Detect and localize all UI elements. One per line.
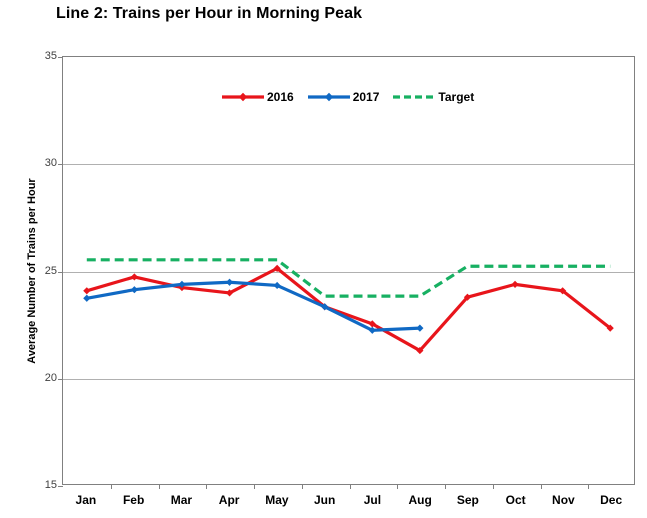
legend-label-2017: 2017: [353, 90, 380, 104]
x-tick-label-apr: Apr: [219, 493, 240, 507]
legend-item-2017: 2017: [308, 90, 380, 104]
x-tick-mark: [159, 484, 160, 489]
x-tick-mark: [206, 484, 207, 489]
x-tick-label-feb: Feb: [123, 493, 144, 507]
y-tick-label: 25: [17, 265, 57, 277]
chart-container: Line 2: Trains per Hour in Morning Peak …: [0, 0, 647, 518]
x-tick-label-mar: Mar: [171, 493, 192, 507]
data-point-2017: [83, 295, 90, 302]
x-tick-mark: [350, 484, 351, 489]
plot-area: [62, 56, 635, 485]
legend-swatch-2016: [222, 90, 264, 104]
x-tick-label-jan: Jan: [76, 493, 97, 507]
data-point-2017: [416, 325, 423, 332]
x-tick-label-dec: Dec: [600, 493, 622, 507]
x-tick-mark: [588, 484, 589, 489]
series-layer: [63, 57, 634, 484]
legend-swatch-target: [393, 90, 435, 104]
x-tick-label-jul: Jul: [364, 493, 381, 507]
x-tick-label-jun: Jun: [314, 493, 335, 507]
x-tick-mark: [541, 484, 542, 489]
x-tick-mark: [254, 484, 255, 489]
data-point-2016: [511, 281, 518, 288]
legend-label-2016: 2016: [267, 90, 294, 104]
x-tick-mark: [445, 484, 446, 489]
x-tick-label-may: May: [265, 493, 288, 507]
data-point-2016: [131, 273, 138, 280]
legend-label-target: Target: [438, 90, 474, 104]
data-point-2016: [83, 287, 90, 294]
x-tick-mark: [111, 484, 112, 489]
x-tick-label-oct: Oct: [506, 493, 526, 507]
x-tick-label-aug: Aug: [408, 493, 431, 507]
data-point-2017: [131, 286, 138, 293]
y-tick-label: 30: [17, 157, 57, 169]
x-tick-mark: [302, 484, 303, 489]
legend-swatch-2017: [308, 90, 350, 104]
data-point-2017: [226, 279, 233, 286]
x-tick-label-sep: Sep: [457, 493, 479, 507]
chart-legend: 2016 2017 Target: [222, 90, 474, 104]
legend-item-target: Target: [393, 90, 474, 104]
y-tick-label: 20: [17, 372, 57, 384]
y-tick-mark: [58, 486, 63, 487]
y-tick-label: 15: [17, 479, 57, 491]
x-tick-mark: [397, 484, 398, 489]
chart-title: Line 2: Trains per Hour in Morning Peak: [56, 5, 362, 23]
y-tick-label: 35: [17, 50, 57, 62]
legend-item-2016: 2016: [222, 90, 294, 104]
x-tick-mark: [493, 484, 494, 489]
series-line-target: [87, 260, 610, 296]
x-tick-label-nov: Nov: [552, 493, 575, 507]
series-line-2016: [87, 268, 610, 350]
